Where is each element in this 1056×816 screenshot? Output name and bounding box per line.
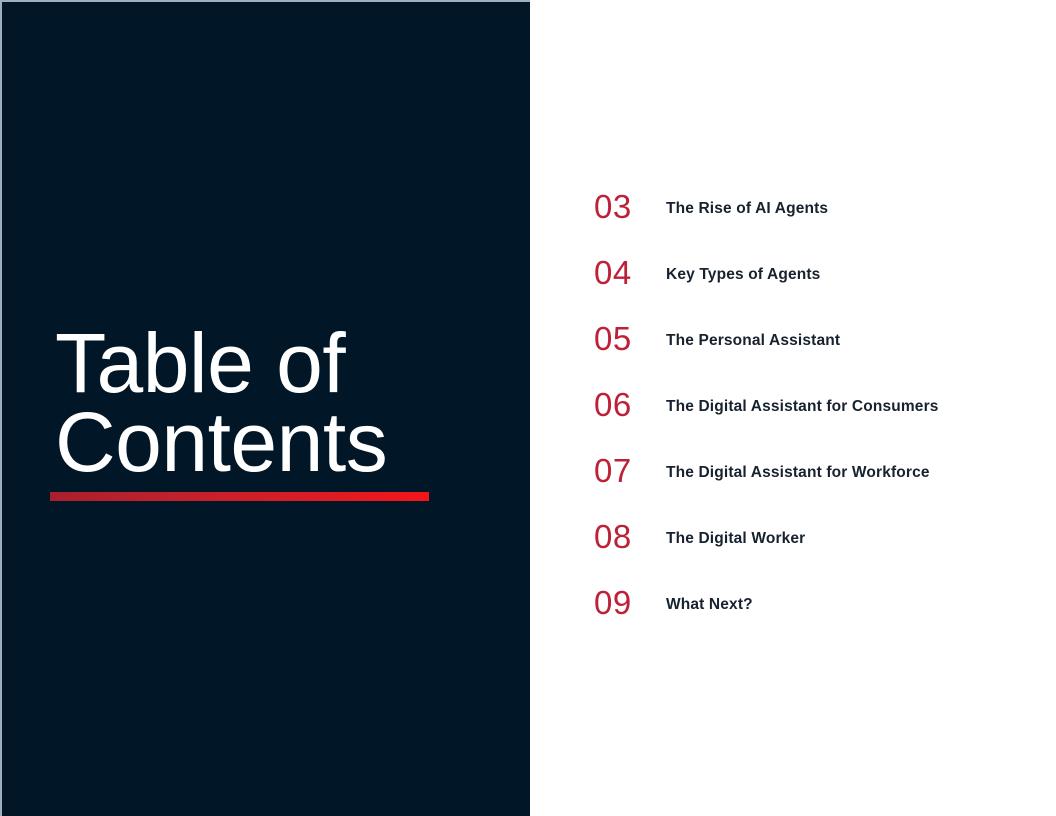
toc-item-label: The Digital Worker	[666, 520, 805, 548]
toc-item-number: 06	[594, 388, 656, 422]
left-title-panel: Table of Contents	[0, 0, 530, 816]
toc-item-number: 03	[594, 190, 656, 224]
list-item[interactable]: 04 Key Types of Agents	[594, 256, 1034, 322]
toc-item-label: Key Types of Agents	[666, 256, 820, 284]
toc-item-label: The Digital Assistant for Workforce	[666, 454, 930, 482]
list-item[interactable]: 06 The Digital Assistant for Consumers	[594, 388, 1034, 454]
toc-item-number: 04	[594, 256, 656, 290]
toc-item-label: What Next?	[666, 586, 753, 614]
toc-item-number: 07	[594, 454, 656, 488]
toc-item-number: 05	[594, 322, 656, 356]
toc-item-label: The Digital Assistant for Consumers	[666, 388, 939, 416]
toc-item-label: The Personal Assistant	[666, 322, 840, 350]
slide-canvas: Table of Contents 03 The Rise of AI Agen…	[0, 0, 1056, 816]
page-title: Table of Contents	[55, 324, 485, 482]
list-item[interactable]: 03 The Rise of AI Agents	[594, 190, 1034, 256]
list-item[interactable]: 09 What Next?	[594, 586, 1034, 652]
list-item[interactable]: 08 The Digital Worker	[594, 520, 1034, 586]
toc-item-number: 09	[594, 586, 656, 620]
list-item[interactable]: 07 The Digital Assistant for Workforce	[594, 454, 1034, 520]
list-item[interactable]: 05 The Personal Assistant	[594, 322, 1034, 388]
toc-item-label: The Rise of AI Agents	[666, 190, 828, 218]
title-underline-rule	[50, 492, 429, 501]
table-of-contents-list: 03 The Rise of AI Agents 04 Key Types of…	[594, 190, 1034, 652]
page-title-line-1: Table of	[55, 324, 485, 403]
page-title-line-2: Contents	[55, 403, 485, 482]
toc-item-number: 08	[594, 520, 656, 554]
